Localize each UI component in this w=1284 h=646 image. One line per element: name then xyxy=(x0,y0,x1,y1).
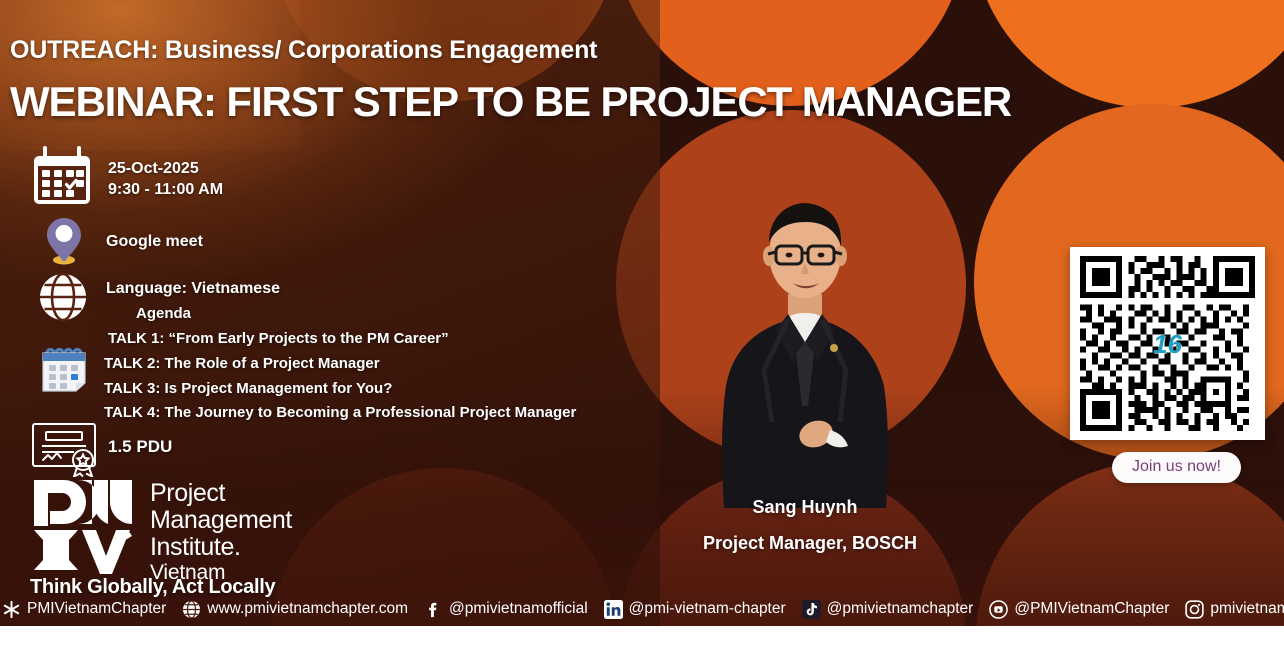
social-linkedin[interactable]: @pmi-vietnam-chapter xyxy=(604,600,786,619)
webinar-poster: OUTREACH: Business/ Corporations Engagem… xyxy=(0,0,1284,646)
youtube-icon xyxy=(989,600,1008,619)
event-time: 9:30 - 11:00 AM xyxy=(108,179,223,200)
tiktok-icon xyxy=(802,600,821,619)
website-icon xyxy=(182,600,201,619)
instagram-icon xyxy=(1185,600,1204,619)
agenda-talk-2: TALK 2: The Role of a Project Manager xyxy=(104,355,380,372)
calendar-icon xyxy=(30,146,94,213)
pmi-logo: Project Management Institute. Vietnam xyxy=(32,478,292,585)
pmi-word-1: Project xyxy=(150,480,292,507)
bg-circle xyxy=(972,0,1284,108)
page-title: WEBINAR: FIRST STEP TO BE PROJECT MANAGE… xyxy=(10,78,1011,126)
social-handle: @pmivietnamofficial xyxy=(449,600,588,618)
date-time-block: 25-Oct-2025 9:30 - 11:00 AM xyxy=(108,158,223,200)
social-handle: PMIVietnamChapter xyxy=(27,600,166,618)
social-handle: pmivietnamchaptercom/ xyxy=(1210,600,1284,618)
speaker-name: Sang Huynh xyxy=(700,497,910,518)
agenda-talk-4: TALK 4: The Journey to Becoming a Profes… xyxy=(104,404,576,421)
location-pin-icon xyxy=(44,216,84,271)
background-grain-texture xyxy=(0,0,300,150)
social-facebook[interactable]: @pmivietnamofficial xyxy=(424,600,588,619)
social-website[interactable]: www.pmivietnamchapter.com xyxy=(182,600,408,619)
social-handle: @pmivietnamchapter xyxy=(827,600,974,618)
social-instagram[interactable]: pmivietnamchaptercom/ xyxy=(1185,600,1284,619)
pmi-word-3: Institute. xyxy=(150,534,292,561)
certificate-icon xyxy=(30,421,106,482)
pmi-logo-mark xyxy=(32,478,136,576)
event-venue: Google meet xyxy=(106,233,203,251)
join-button[interactable]: Join us now! xyxy=(1112,452,1241,483)
pdu-value: 1.5 PDU xyxy=(108,437,172,457)
pmi-word-2: Management xyxy=(150,507,292,534)
social-youtube[interactable]: @PMIVietnamChapter xyxy=(989,600,1169,619)
social-handle: www.pmivietnamchapter.com xyxy=(207,600,408,618)
facebook-icon xyxy=(424,600,443,619)
threads-icon xyxy=(2,600,21,619)
event-date: 25-Oct-2025 xyxy=(108,158,223,179)
speaker-photo xyxy=(700,190,910,510)
agenda-talk-3: TALK 3: Is Project Management for You? xyxy=(104,380,392,397)
agenda-heading: Agenda xyxy=(136,305,191,322)
qr-code[interactable]: 16 xyxy=(1070,247,1265,440)
social-handle: @PMIVietnamChapter xyxy=(1014,600,1169,618)
kicker-text: OUTREACH: Business/ Corporations Engagem… xyxy=(10,36,597,65)
social-footer: PMIVietnamChapter www.pmivietnamchapter.… xyxy=(0,592,1284,626)
agenda-calendar-icon xyxy=(38,343,90,398)
social-tiktok[interactable]: @pmivietnamchapter xyxy=(802,600,974,619)
pmi-logo-wordmark: Project Management Institute. Vietnam xyxy=(150,478,292,585)
speaker-role: Project Manager, BOSCH xyxy=(640,533,980,554)
event-language: Language: Vietnamese xyxy=(106,280,280,298)
bottom-white-strip xyxy=(0,626,1284,646)
social-handle: @pmi-vietnam-chapter xyxy=(629,600,786,618)
linkedin-icon xyxy=(604,600,623,619)
globe-icon xyxy=(38,272,88,327)
social-threads[interactable]: PMIVietnamChapter xyxy=(2,600,166,619)
agenda-talk-1: TALK 1: “From Early Projects to the PM C… xyxy=(108,330,449,347)
